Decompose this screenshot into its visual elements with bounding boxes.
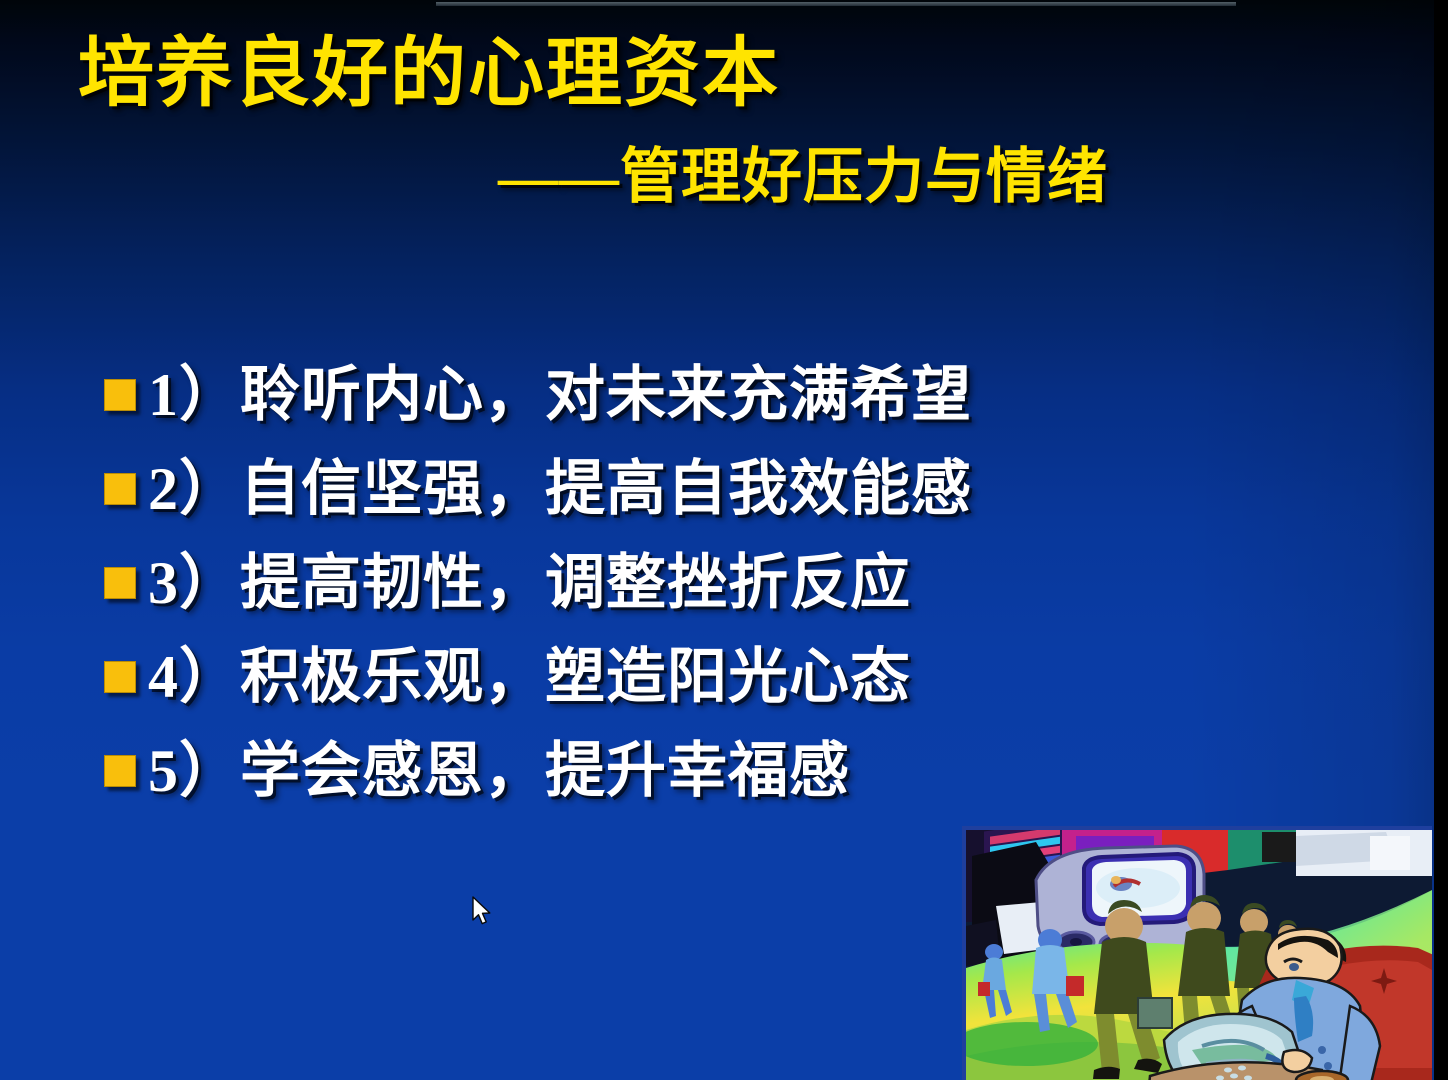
list-item: 1）聆听内心，对未来充满希望 [104, 348, 1104, 442]
list-item-number: 1） [148, 362, 240, 428]
list-item-number: 3） [148, 550, 240, 616]
list-item: 4）积极乐观，塑造阳光心态 [104, 630, 1104, 724]
page-title: 培养良好的心理资本 [78, 36, 780, 112]
page-subtitle: ——管理好压力与情绪 [498, 147, 1108, 207]
list-item-label: 自信坚强，提高自我效能感 [240, 456, 972, 522]
top-divider-line [436, 2, 1236, 6]
list-item-text: 4）积极乐观，塑造阳光心态 [148, 647, 911, 707]
list-item: 3）提高韧性，调整挫折反应 [104, 536, 1104, 630]
gold-square-bullet-icon [104, 755, 136, 787]
list-item-label: 提高韧性，调整挫折反应 [240, 550, 911, 616]
list-item-number: 5） [148, 738, 240, 804]
gold-square-bullet-icon [104, 379, 136, 411]
list-item-label: 聆听内心，对未来充满希望 [240, 362, 972, 428]
office-workers-and-man-with-laptop-clipart [962, 826, 1432, 1080]
list-item-text: 2）自信坚强，提高自我效能感 [148, 459, 972, 519]
list-item-label: 学会感恩，提升幸福感 [240, 738, 850, 804]
list-item-text: 1）聆听内心，对未来充满希望 [148, 365, 972, 425]
presentation-slide: 培养良好的心理资本 ——管理好压力与情绪 1）聆听内心，对未来充满希望 2）自信… [0, 0, 1448, 1080]
list-item: 5）学会感恩，提升幸福感 [104, 724, 1104, 818]
gold-square-bullet-icon [104, 473, 136, 505]
right-black-bezel [1434, 0, 1448, 1080]
gold-square-bullet-icon [104, 567, 136, 599]
list-item-number: 4） [148, 644, 240, 710]
list-item-label: 积极乐观，塑造阳光心态 [240, 644, 911, 710]
list-item-number: 2） [148, 456, 240, 522]
list-item-text: 3）提高韧性，调整挫折反应 [148, 553, 911, 613]
bullet-list: 1）聆听内心，对未来充满希望 2）自信坚强，提高自我效能感 3）提高韧性，调整挫… [104, 348, 1104, 818]
gold-square-bullet-icon [104, 661, 136, 693]
list-item: 2）自信坚强，提高自我效能感 [104, 442, 1104, 536]
list-item-text: 5）学会感恩，提升幸福感 [148, 741, 850, 801]
